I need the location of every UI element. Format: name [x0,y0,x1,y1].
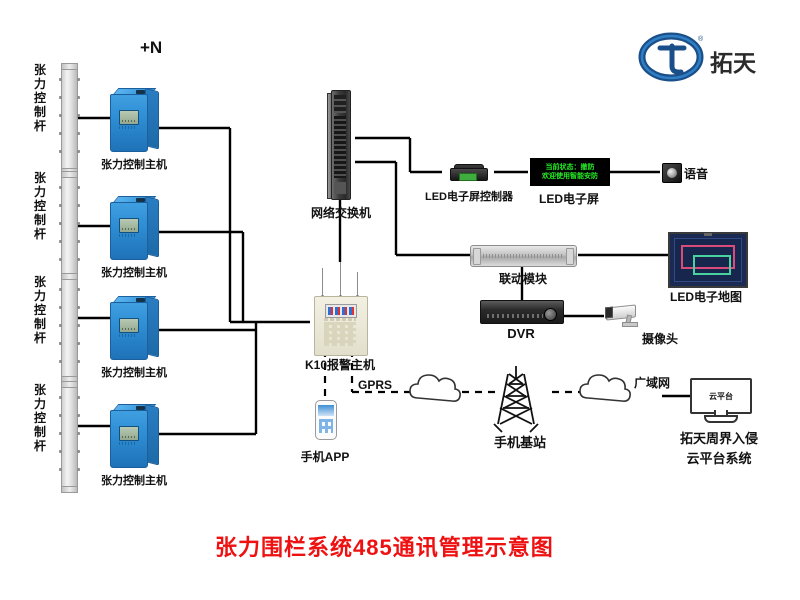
mobile-app-label: 手机APP [292,448,358,465]
antenna-icon [322,268,323,298]
dvr-label: DVR [486,326,556,341]
dvr-icon [480,300,564,324]
cloud-platform-label-line1: 拓天周界入侵 [654,428,784,447]
led-screen-line1: 当前状态：撤防 [546,163,595,172]
tension-pole [61,171,78,283]
tension-control-host [110,88,157,150]
phone-icon [315,400,337,440]
cloud-icon [580,375,630,401]
brand-name: 拓天 [710,44,756,78]
led-screen-icon: 当前状态：撤防 欢迎使用智能安防 [530,158,610,186]
led-controller-label: LED电子屏控制器 [414,188,524,204]
plus-n-label: +N [140,38,162,58]
network-switch-label: 网络交换机 [296,204,386,221]
cell-tower-icon [494,366,538,432]
diagram-canvas: ® 拓天 +N 张力控制杆 张力控制主机 张力控制杆 张力控制主机 [0,0,800,600]
tension-pole-label: 张力控制杆 [33,275,47,345]
led-screen-label: LED电子屏 [532,190,606,207]
tension-pole-label: 张力控制杆 [33,63,47,133]
tension-host-label: 张力控制主机 [88,364,180,380]
cloud-icon [410,375,460,401]
tension-control-host [110,196,157,258]
brand-logo: ® 拓天 [640,34,790,82]
page-title: 张力围栏系统485通讯管理示意图 [215,530,554,562]
led-controller-icon [450,164,486,180]
base-station-label: 手机基站 [490,432,550,451]
led-screen-line2: 欢迎使用智能安防 [542,172,598,181]
tension-host-label: 张力控制主机 [88,264,180,280]
antenna-icon [357,272,358,298]
voice-label: 语音 [684,165,724,182]
tension-pole [61,63,78,175]
tension-control-host [110,404,157,466]
linkage-module-icon [470,245,577,267]
camera-label: 摄像头 [642,330,698,347]
alarm-host-icon [314,296,368,356]
tension-pole-label: 张力控制杆 [33,171,47,241]
camera-icon [606,306,640,326]
cloud-platform-label-line2: 云平台系统 [654,448,784,467]
speaker-icon [662,163,682,183]
led-map-icon [668,232,748,288]
tension-control-host [110,296,157,358]
gprs-label: GPRS [358,378,402,392]
led-map-label: LED电子地图 [656,288,756,305]
cloud-platform-screen-text: 云平台 [709,391,733,402]
tuotian-logo-icon [640,34,702,80]
tension-host-label: 张力控制主机 [88,156,180,172]
network-switch-icon [327,90,353,198]
tension-pole [61,381,78,493]
trademark-symbol: ® [698,36,703,43]
linkage-module-label: 联动模块 [478,270,568,287]
tension-pole [61,273,78,383]
antenna-icon [340,262,341,298]
tension-pole-label: 张力控制杆 [33,383,47,453]
monitor-icon: 云平台 [690,378,748,420]
alarm-host-label: K10报警主机 [292,356,388,373]
wan-label: 广域网 [628,374,676,391]
tension-host-label: 张力控制主机 [88,472,180,488]
